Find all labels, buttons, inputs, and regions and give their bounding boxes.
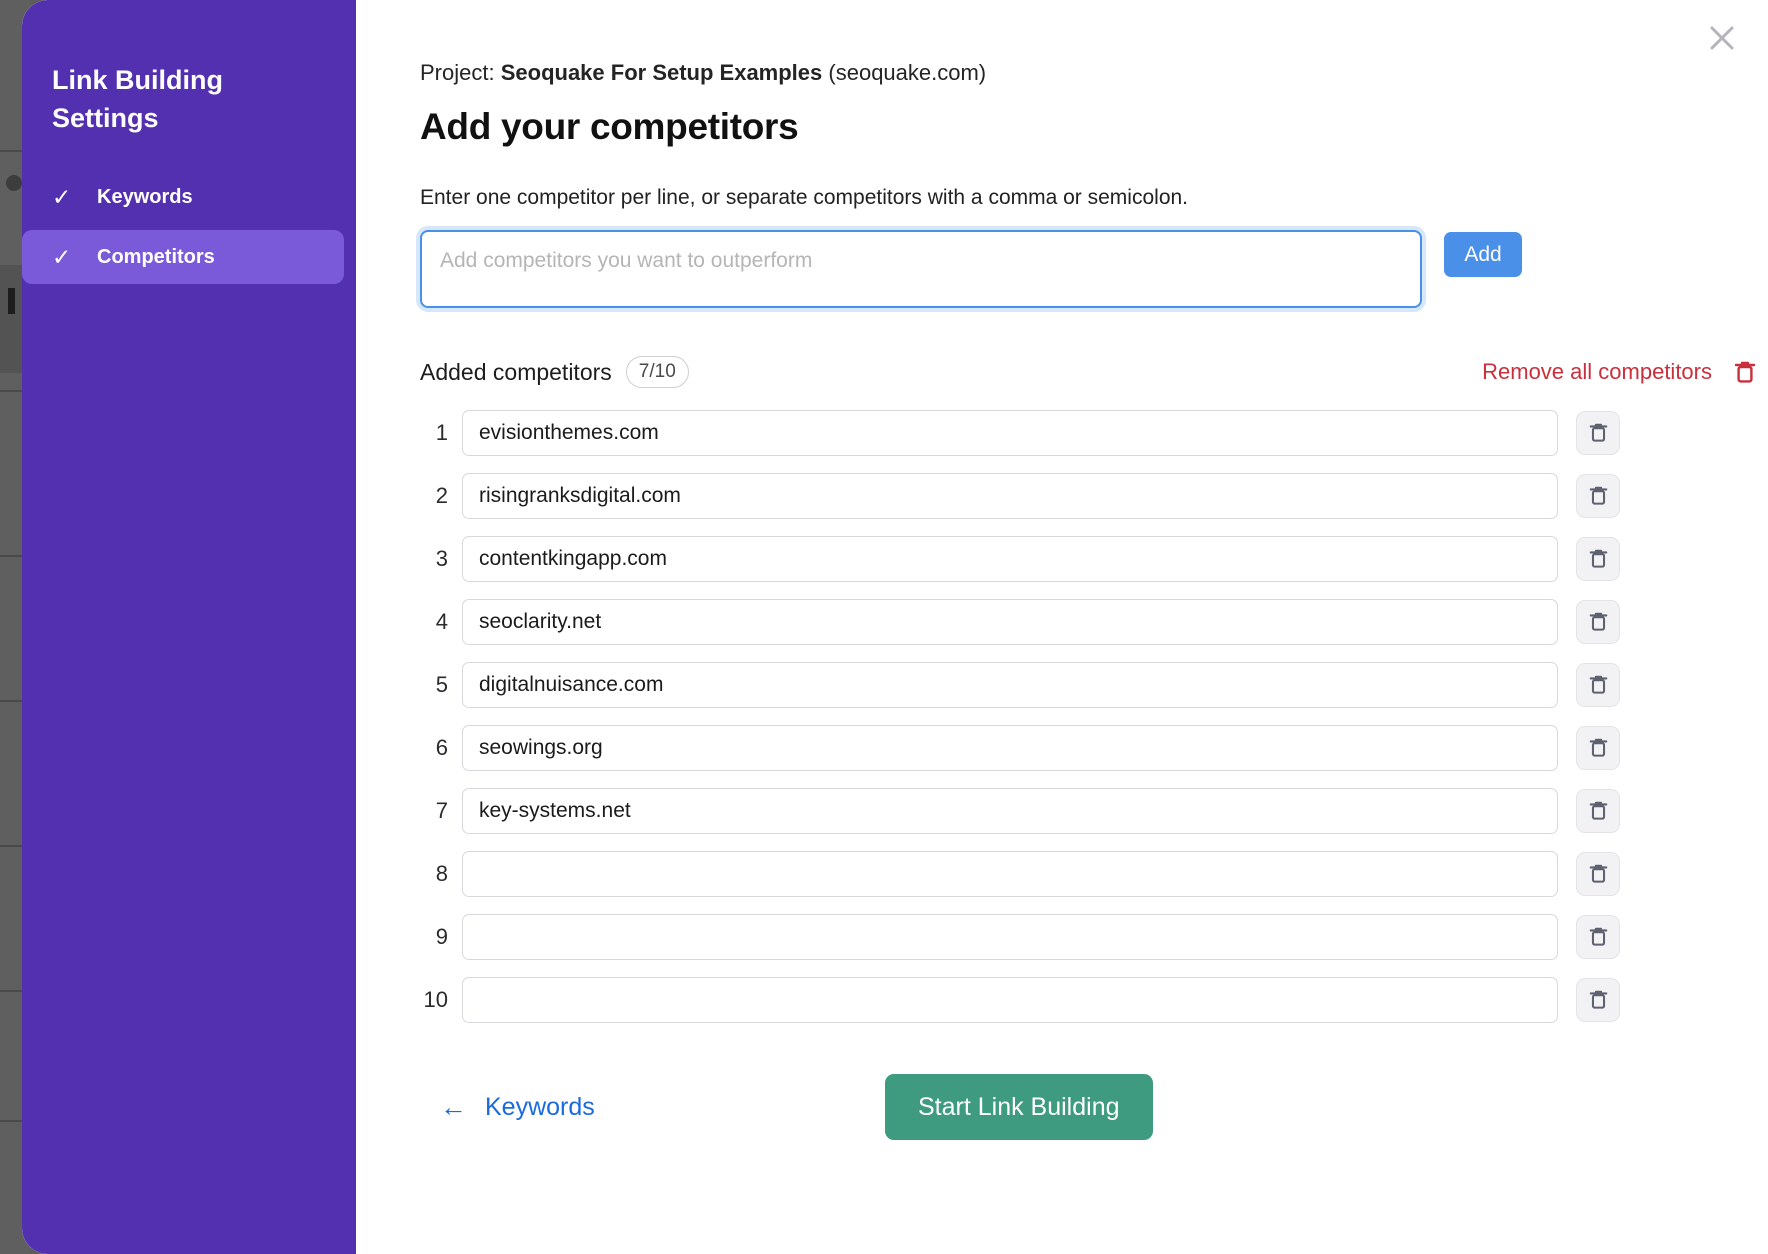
remove-all-competitors-button[interactable]: Remove all competitors	[1482, 359, 1756, 385]
add-competitor-form: Add	[420, 230, 1690, 308]
competitors-input[interactable]	[420, 230, 1422, 308]
delete-row-button[interactable]	[1576, 726, 1620, 770]
sidebar-item-label: Keywords	[86, 186, 193, 209]
add-button[interactable]: Add	[1444, 232, 1522, 277]
row-number: 8	[420, 861, 462, 887]
table-row: 2	[420, 467, 1768, 524]
link-building-settings-modal: Link Building Settings ✓ Keywords ✓ Comp…	[22, 0, 1768, 1254]
competitor-field[interactable]	[462, 977, 1558, 1023]
delete-row-button[interactable]	[1576, 411, 1620, 455]
delete-row-button[interactable]	[1576, 978, 1620, 1022]
sidebar-nav: ✓ Keywords ✓ Competitors	[22, 170, 356, 290]
sidebar-item-competitors[interactable]: ✓ Competitors	[22, 230, 344, 284]
table-row: 6	[420, 719, 1768, 776]
table-row: 4	[420, 593, 1768, 650]
table-row: 8	[420, 845, 1768, 902]
table-row: 1	[420, 404, 1768, 461]
competitor-field[interactable]	[462, 788, 1558, 834]
sidebar-item-label: Competitors	[86, 246, 215, 269]
settings-sidebar: Link Building Settings ✓ Keywords ✓ Comp…	[22, 0, 356, 1254]
start-link-building-button[interactable]: Start Link Building	[885, 1074, 1153, 1140]
modal-footer: ← Keywords Start Link Building	[420, 1074, 1690, 1140]
delete-row-button[interactable]	[1576, 537, 1620, 581]
competitor-field[interactable]	[462, 473, 1558, 519]
competitor-field[interactable]	[462, 725, 1558, 771]
row-number: 1	[420, 420, 462, 446]
back-to-keywords-link[interactable]: ← Keywords	[440, 1093, 595, 1122]
competitor-rows: 1 2	[420, 404, 1768, 1028]
table-row: 5	[420, 656, 1768, 713]
delete-row-button[interactable]	[1576, 915, 1620, 959]
competitor-count-badge: 7/10	[626, 356, 689, 388]
table-row: 3	[420, 530, 1768, 587]
table-row: 9	[420, 908, 1768, 965]
sidebar-item-keywords[interactable]: ✓ Keywords	[22, 170, 344, 224]
main-content: Project: Seoquake For Setup Examples (se…	[356, 0, 1768, 1254]
project-breadcrumb: Project: Seoquake For Setup Examples (se…	[420, 60, 1768, 86]
delete-row-button[interactable]	[1576, 474, 1620, 518]
competitor-field[interactable]	[462, 662, 1558, 708]
row-number: 9	[420, 924, 462, 950]
project-domain: (seoquake.com)	[828, 60, 986, 85]
project-prefix: Project:	[420, 60, 495, 85]
row-number: 2	[420, 483, 462, 509]
delete-row-button[interactable]	[1576, 663, 1620, 707]
row-number: 4	[420, 609, 462, 635]
project-name: Seoquake For Setup Examples	[501, 60, 823, 85]
competitor-field[interactable]	[462, 410, 1558, 456]
competitor-field[interactable]	[462, 599, 1558, 645]
sidebar-title: Link Building Settings	[52, 62, 302, 138]
back-link-label: Keywords	[485, 1093, 595, 1122]
row-number: 5	[420, 672, 462, 698]
remove-all-label: Remove all competitors	[1482, 359, 1712, 385]
check-icon: ✓	[52, 186, 86, 209]
row-number: 6	[420, 735, 462, 761]
delete-row-button[interactable]	[1576, 600, 1620, 644]
check-icon: ✓	[52, 246, 86, 269]
row-number: 10	[420, 987, 462, 1013]
delete-row-button[interactable]	[1576, 789, 1620, 833]
table-row: 10	[420, 971, 1768, 1028]
delete-row-button[interactable]	[1576, 852, 1620, 896]
table-row: 7	[420, 782, 1768, 839]
added-competitors-header: Added competitors 7/10 Remove all compet…	[420, 356, 1756, 388]
row-number: 3	[420, 546, 462, 572]
competitor-field[interactable]	[462, 851, 1558, 897]
row-number: 7	[420, 798, 462, 824]
competitor-field[interactable]	[462, 914, 1558, 960]
added-competitors-label: Added competitors	[420, 359, 612, 386]
trash-icon	[1734, 360, 1756, 384]
helper-text: Enter one competitor per line, or separa…	[420, 186, 1768, 210]
arrow-left-icon: ←	[440, 1094, 467, 1121]
competitor-field[interactable]	[462, 536, 1558, 582]
page-title: Add your competitors	[420, 106, 1768, 148]
